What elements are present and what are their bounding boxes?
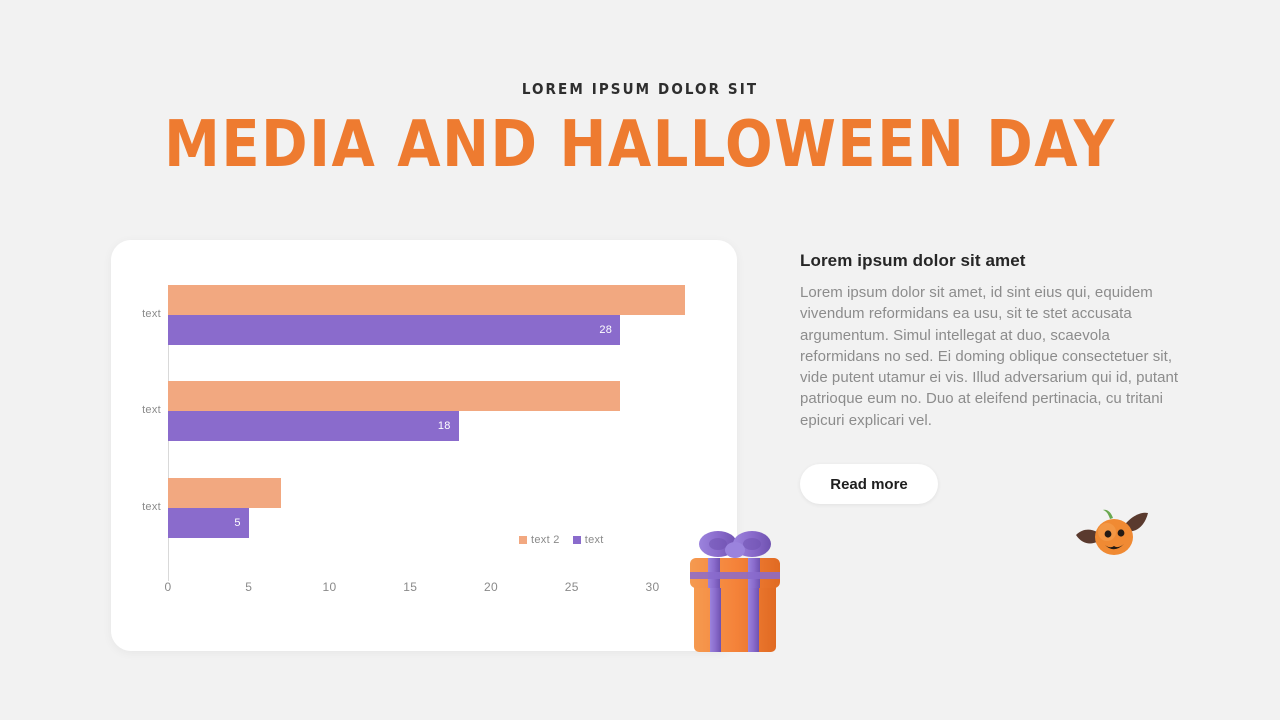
chart-x-tick-label: 20 [471, 580, 511, 594]
slide-subtitle: LOREM IPSUM DOLOR SIT [0, 80, 1280, 98]
chart-x-tick-label: 30 [633, 580, 673, 594]
chart-legend-swatch [519, 536, 527, 544]
pumpkin-bat-icon [1072, 505, 1152, 563]
chart-bar[interactable]: 18 [168, 411, 459, 441]
chart-bar-value-label: 28 [599, 324, 612, 336]
chart-legend-label: text [585, 534, 604, 546]
right-column-heading: Lorem ipsum dolor sit amet [800, 251, 1026, 271]
read-more-button[interactable]: Read more [800, 464, 938, 504]
chart-x-tick-label: 15 [390, 580, 430, 594]
chart-x-tick-label: 25 [552, 580, 592, 594]
chart-legend-item[interactable]: text [573, 534, 604, 546]
chart-x-tick-label: 10 [310, 580, 350, 594]
chart-legend-item[interactable]: text 2 [519, 534, 560, 546]
slide-title: MEDIA AND HALLOWEEN DAY [0, 108, 1280, 182]
chart-category-label-text: text [121, 501, 161, 513]
chart-x-tick-label: 5 [229, 580, 269, 594]
slide-root: LOREM IPSUM DOLOR SIT MEDIA AND HALLOWEE… [0, 0, 1280, 720]
right-column-body: Lorem ipsum dolor sit amet, id sint eius… [800, 282, 1192, 431]
chart-legend: text 2text [519, 534, 604, 546]
chart-category-label-text: text [121, 404, 161, 416]
chart-bar-value-label: 5 [234, 517, 240, 529]
chart-card: text28text18text5051015202530text 2text [111, 240, 737, 651]
chart-bar[interactable] [168, 285, 685, 315]
chart-bar[interactable]: 28 [168, 315, 620, 345]
chart-bar[interactable]: 5 [168, 508, 249, 538]
chart-category-label-text: text [121, 308, 161, 320]
chart-legend-swatch [573, 536, 581, 544]
chart-bar-value-label: 18 [438, 420, 451, 432]
gift-box-icon [688, 524, 782, 656]
chart-bar[interactable] [168, 478, 281, 508]
bar-chart: text28text18text5051015202530text 2text [111, 240, 737, 651]
chart-bar[interactable] [168, 381, 620, 411]
chart-x-tick-label: 0 [148, 580, 188, 594]
chart-legend-label: text 2 [531, 534, 560, 546]
